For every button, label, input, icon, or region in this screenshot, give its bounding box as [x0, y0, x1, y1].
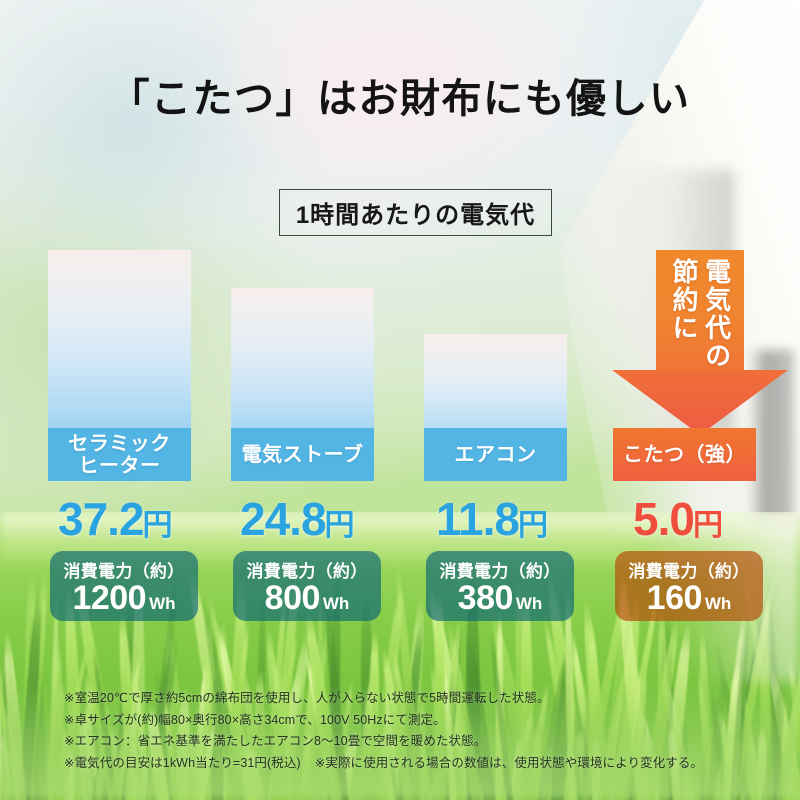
price-value: 37.2: [58, 493, 144, 545]
bar-label-line1: セラミック: [68, 433, 171, 455]
footnote-2: ※卓サイズが(約)幅80×奥行80×高さ34cmで、100V 50Hzにて測定。: [64, 710, 754, 732]
price-electric-stove: 24.8円: [240, 492, 355, 546]
badge-unit: Wh: [149, 595, 175, 612]
badge-kotatsu: 消費電力（約） 160Wh: [615, 551, 763, 621]
bar-kotatsu: こたつ（強）: [613, 428, 756, 481]
subtitle-box: 1時間あたりの電気代: [279, 189, 552, 236]
badge-value: 160: [647, 581, 702, 615]
arrow-head-icon: [612, 370, 788, 435]
bar-label-line2: ヒーター: [79, 455, 161, 477]
price-value: 24.8: [240, 493, 326, 545]
badge-unit: Wh: [323, 595, 349, 612]
arrow-shaft: [656, 250, 744, 372]
bar-label-electric-stove: 電気ストーブ: [231, 428, 374, 481]
price-unit: 円: [693, 509, 723, 542]
bar-label-line1: こたつ（強）: [623, 444, 746, 466]
footnote-3: ※エアコン：省エネ基準を満たしたエアコン8〜10畳で空間を暖めた状態。: [64, 731, 754, 753]
price-air-conditioner: 11.8円: [436, 492, 548, 546]
badge-value: 800: [265, 581, 320, 615]
bar-label-air-conditioner: エアコン: [424, 428, 567, 481]
footnotes: ※室温20℃で厚さ約5cmの綿布団を使用し、人が入らない状態で5時間運転した状態…: [64, 688, 754, 775]
price-unit: 円: [518, 509, 548, 542]
badge-value-group: 800Wh: [265, 581, 350, 615]
footnote-1: ※室温20℃で厚さ約5cmの綿布団を使用し、人が入らない状態で5時間運転した状態…: [64, 688, 754, 710]
price-unit: 円: [325, 509, 355, 542]
badge-unit: Wh: [516, 595, 542, 612]
bar-ceramic-heater: セラミック ヒーター: [48, 250, 191, 481]
badge-value: 1200: [72, 581, 146, 615]
subtitle-label: 1時間あたりの電気代: [296, 195, 535, 230]
footnote-5: ※実際に使用される場合の数値は、使用状態や環境により変化する。: [315, 756, 703, 770]
footnote-4: ※電気代の目安は1kWh当たり=31円(税込): [64, 756, 301, 770]
bar-air-conditioner: エアコン: [424, 334, 567, 481]
badge-electric-stove: 消費電力（約） 800Wh: [233, 551, 381, 621]
price-kotatsu: 5.0円: [633, 492, 723, 546]
savings-arrow: 電気代の 節約に: [612, 250, 788, 435]
badge-value-group: 160Wh: [647, 581, 732, 615]
badge-value-group: 1200Wh: [72, 581, 175, 615]
bar-electric-stove: 電気ストーブ: [231, 288, 374, 481]
price-ceramic-heater: 37.2円: [58, 492, 173, 546]
price-unit: 円: [143, 509, 173, 542]
price-value: 5.0: [633, 493, 694, 545]
bar-label-line1: エアコン: [455, 444, 537, 466]
price-value: 11.8: [436, 493, 519, 545]
infographic-canvas: 「こたつ」はお財布にも優しい 1時間あたりの電気代 セラミック ヒーター 37.…: [0, 0, 800, 800]
footnote-4-row: ※電気代の目安は1kWh当たり=31円(税込)※実際に使用される場合の数値は、使…: [64, 753, 754, 775]
badge-value: 380: [458, 581, 513, 615]
bar-label-ceramic-heater: セラミック ヒーター: [48, 428, 191, 481]
badge-value-group: 380Wh: [458, 581, 543, 615]
bar-label-kotatsu: こたつ（強）: [613, 428, 756, 481]
page-title: 「こたつ」はお財布にも優しい: [0, 66, 800, 124]
badge-unit: Wh: [705, 595, 731, 612]
badge-ceramic-heater: 消費電力（約） 1200Wh: [50, 551, 198, 621]
badge-air-conditioner: 消費電力（約） 380Wh: [426, 551, 574, 621]
bar-label-line1: 電気ストーブ: [242, 444, 364, 466]
